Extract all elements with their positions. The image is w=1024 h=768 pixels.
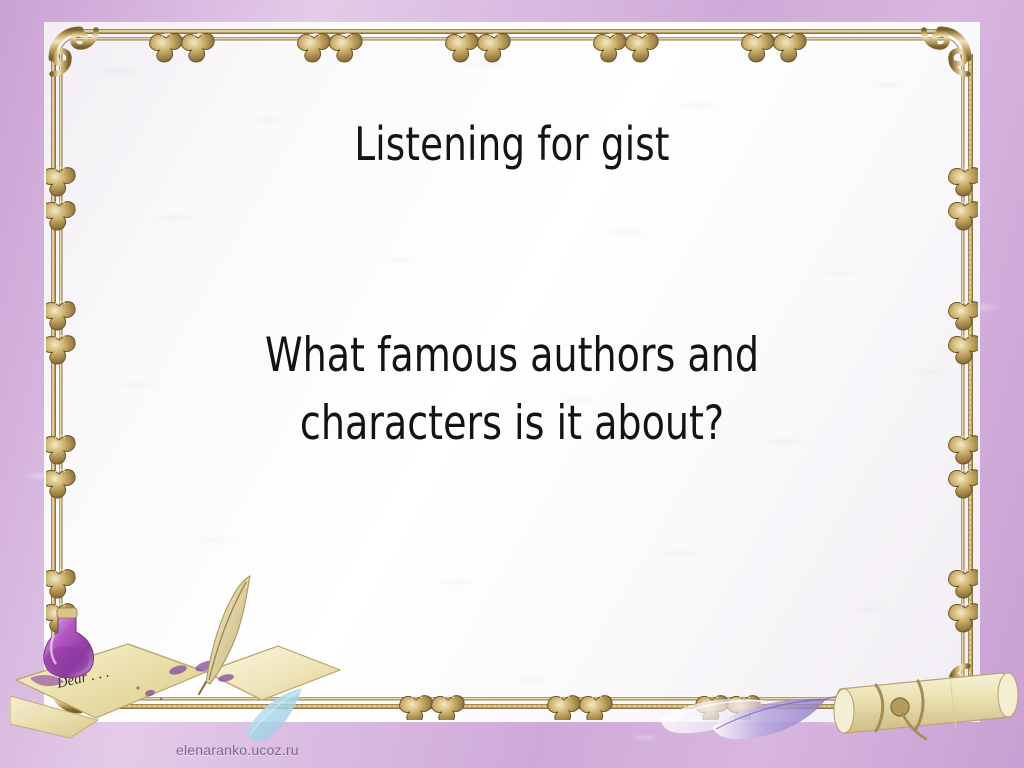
presentation-slide: Dear . . . (0, 0, 1024, 768)
inner-paper-panel (44, 22, 980, 722)
watermark-text: elenaranko.ucoz.ru (176, 742, 299, 758)
